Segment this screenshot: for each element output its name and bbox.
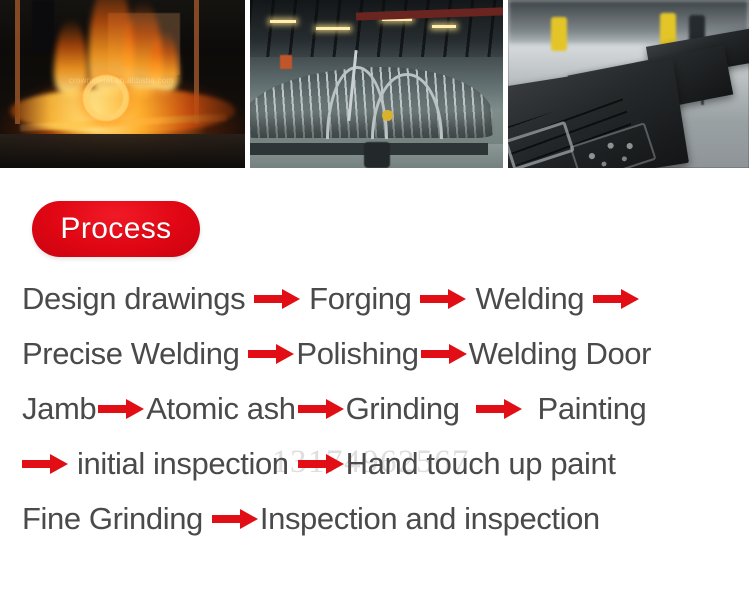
process-flow-line: Fine GrindingInspection and inspection: [22, 491, 727, 546]
wrought-iron-canopy-photo: [250, 0, 503, 168]
arrow-right-icon: [421, 343, 467, 365]
arrow-right-icon: [476, 398, 522, 420]
process-flow-line: Precise WeldingPolishingWelding Door: [22, 326, 727, 381]
arrow-right-icon: [298, 453, 344, 475]
forging-furnace-photo: crownmetal.en.alibaba.com: [0, 0, 245, 168]
workshop-cart: [364, 142, 390, 168]
process-section: Process 13174962567 Design drawingsForgi…: [0, 168, 749, 597]
process-badge: Process: [32, 201, 200, 257]
process-step-label: Fine Grinding: [22, 503, 203, 534]
arrow-right-icon: [98, 398, 144, 420]
arrow-right-icon: [593, 288, 639, 310]
photo-strip: crownmetal.en.alibaba.com: [0, 0, 749, 168]
arrow-right-icon: [248, 343, 294, 365]
process-flow-line: JambAtomic ashGrindingPainting: [22, 381, 727, 436]
arrow-right-icon: [298, 398, 344, 420]
arrow-right-icon: [254, 288, 300, 310]
arrow-right-icon: [212, 508, 258, 530]
process-flow: Design drawingsForgingWeldingPrecise Wel…: [0, 271, 749, 546]
ceiling-lamp: [270, 20, 296, 23]
forge-worker-silhouette: [32, 0, 54, 52]
process-step-label: Welding: [475, 283, 584, 314]
process-step-label: Precise Welding: [22, 338, 239, 369]
process-step-label: Hand touch up paint: [346, 448, 616, 479]
workshop-worker: [280, 55, 292, 69]
process-flow-line: Design drawingsForgingWelding: [22, 271, 727, 326]
process-flow-line: initial inspectionHand touch up paint: [22, 436, 727, 491]
photo-watermark: crownmetal.en.alibaba.com: [69, 76, 174, 85]
process-step-label: initial inspection: [77, 448, 289, 479]
process-step-label: Grinding: [346, 393, 460, 424]
arrow-right-icon: [22, 453, 68, 475]
process-step-label: Atomic ash: [146, 393, 295, 424]
process-badge-label: Process: [60, 212, 171, 246]
workshop-equipment: [382, 110, 393, 121]
process-step-label: Painting: [538, 393, 647, 424]
worker-yellow-shirt: [551, 17, 567, 51]
process-step-label: Jamb: [22, 393, 96, 424]
process-step-label: Polishing: [296, 338, 418, 369]
ceiling-lamp: [316, 27, 350, 30]
forge-floor: [0, 134, 245, 168]
ceiling-lamp: [432, 25, 456, 28]
process-step-label: Welding Door: [469, 338, 651, 369]
process-step-label: Design drawings: [22, 283, 245, 314]
process-step-label: Inspection and inspection: [260, 503, 600, 534]
painted-iron-doors-photo: [508, 0, 749, 168]
arrow-right-icon: [420, 288, 466, 310]
process-step-label: Forging: [309, 283, 411, 314]
